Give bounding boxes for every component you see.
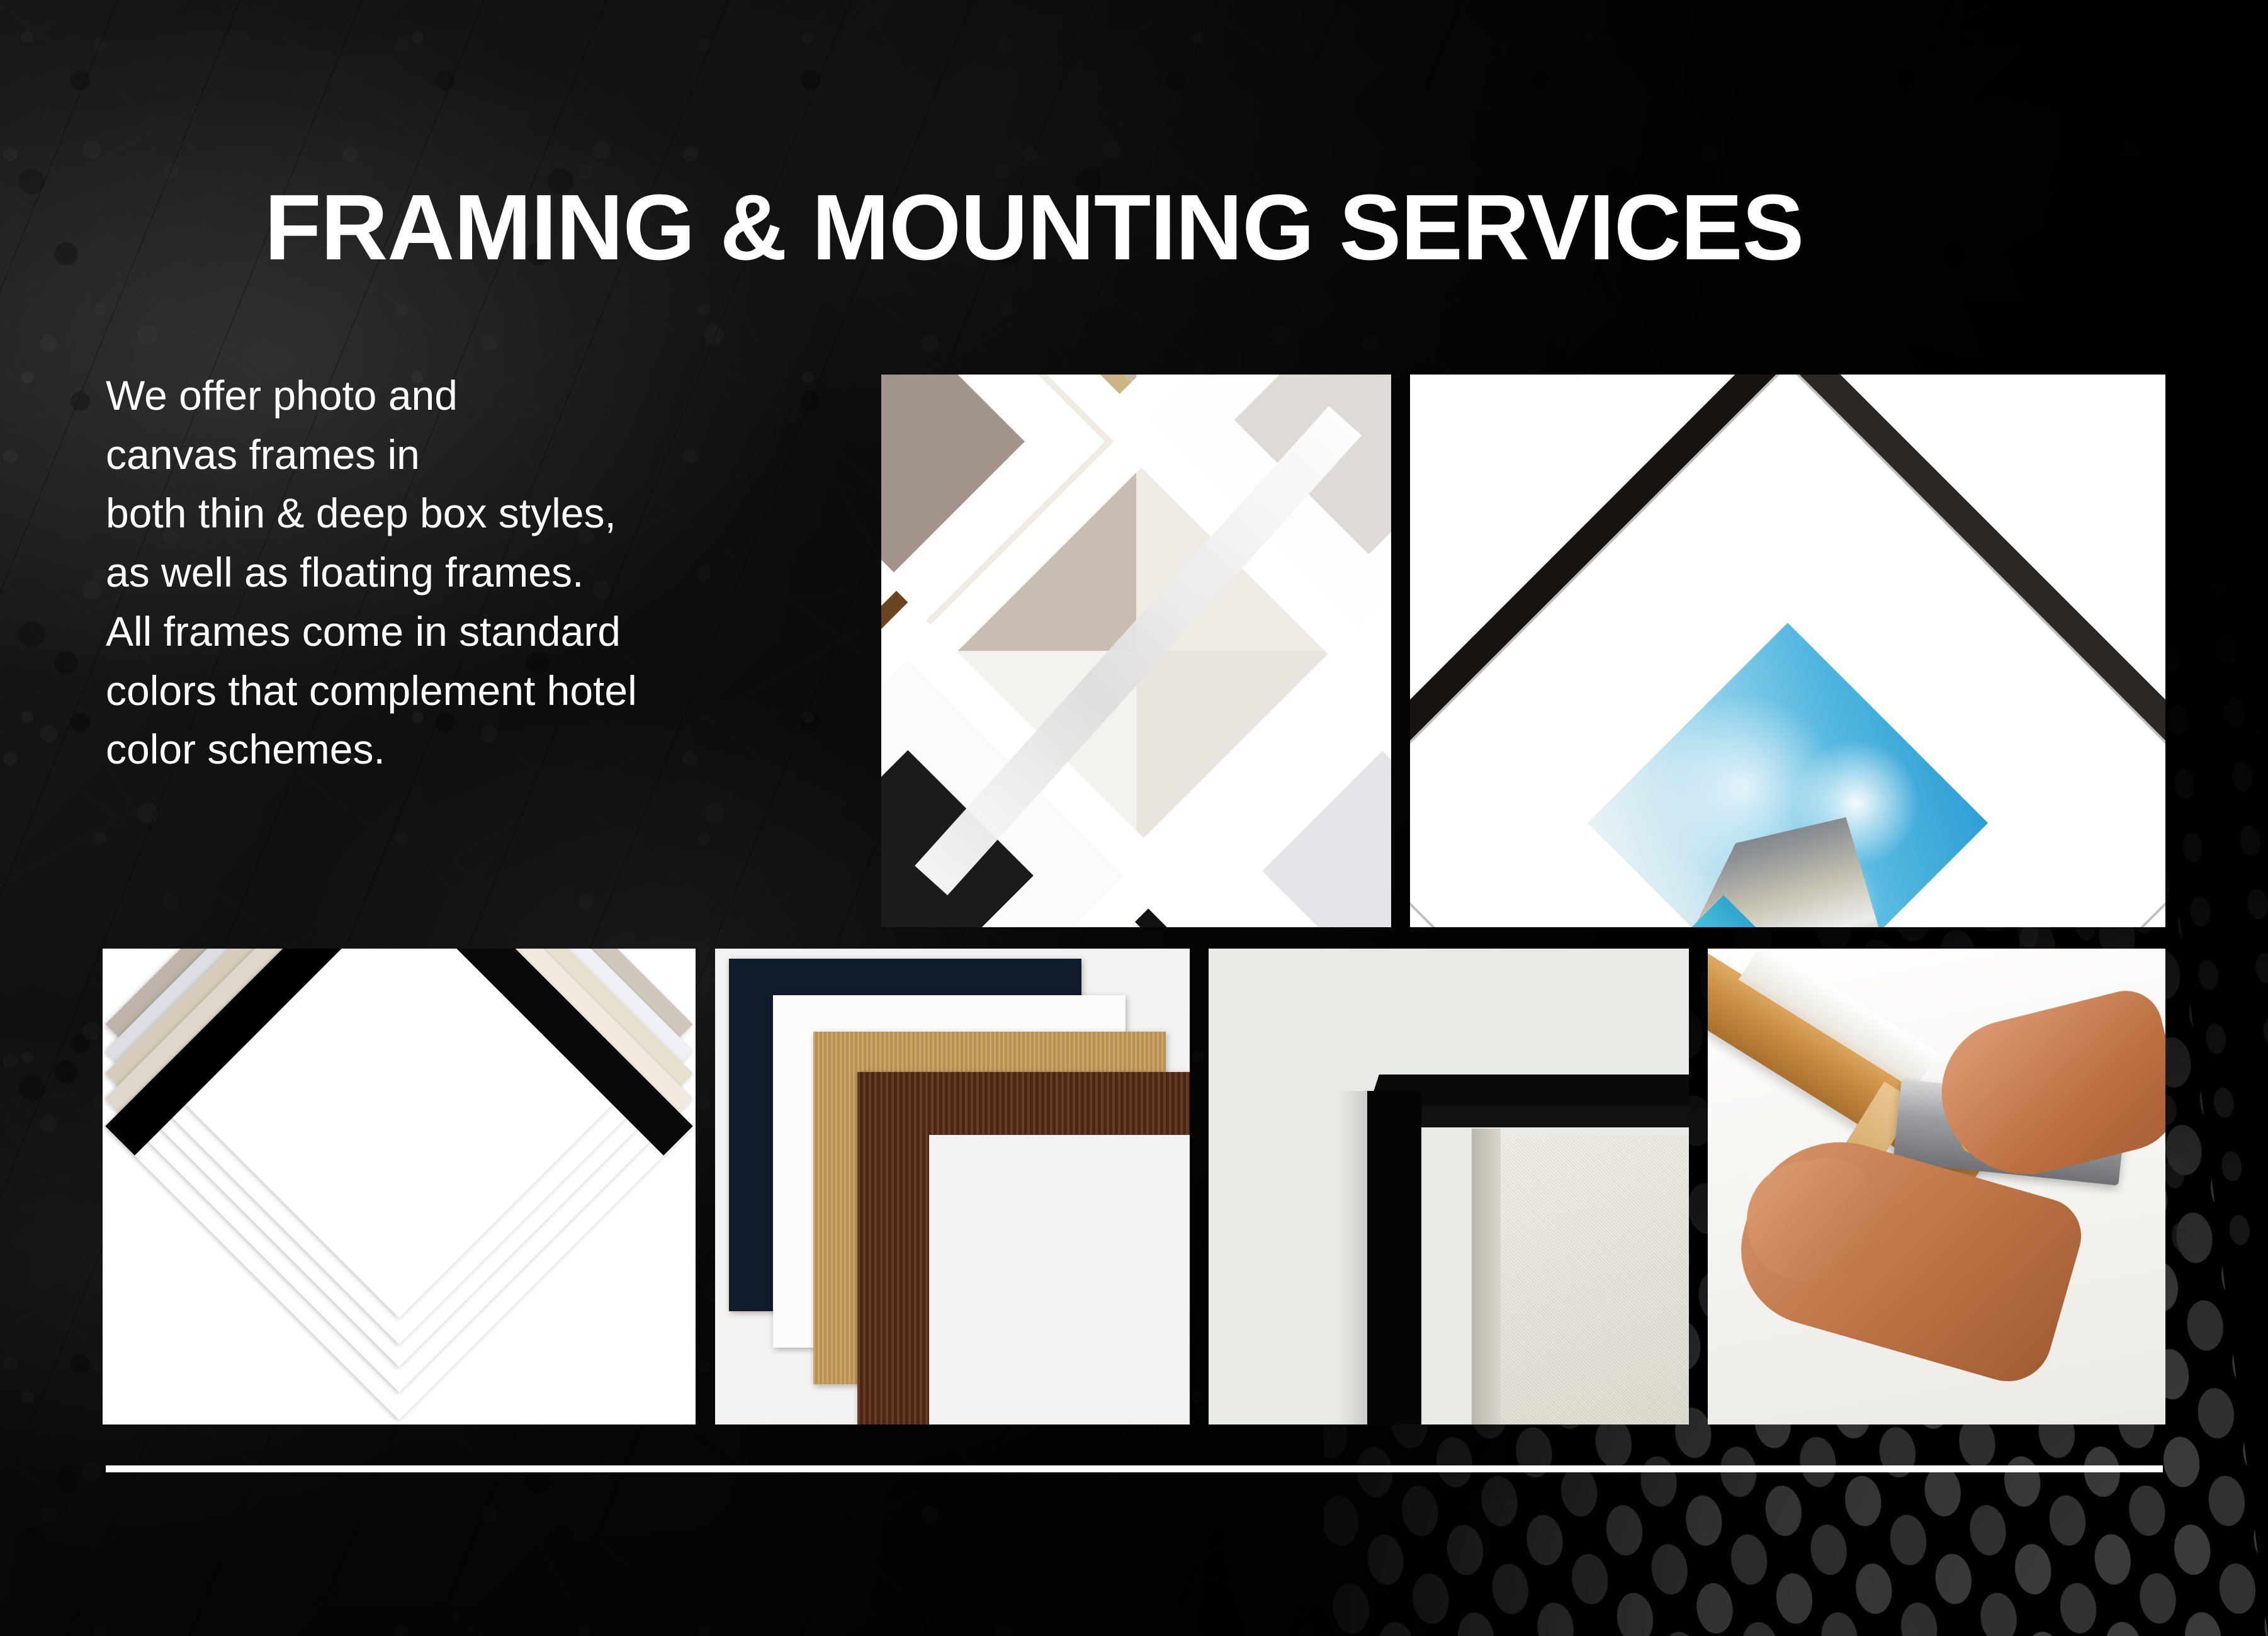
- frame-moulding-stage: [715, 949, 1190, 1424]
- body-line-4: as well as floating frames.: [106, 543, 861, 602]
- floating-frame-side-face: [1367, 1091, 1421, 1424]
- floating-frame-stage: [1209, 949, 1689, 1424]
- body-line-5: All frames come in standard: [106, 602, 861, 662]
- slide-root: FRAMING & MOUNTING SERVICES We offer pho…: [0, 0, 2268, 1636]
- body-copy: We offer photo and canvas frames in both…: [106, 366, 861, 779]
- body-line-3: both thin & deep box styles,: [106, 484, 861, 543]
- frame-moulding-walnut-aperture: [929, 1135, 1190, 1424]
- floating-frame-inner-bar: [1421, 1106, 1689, 1127]
- body-line-1: We offer photo and: [106, 366, 861, 426]
- body-line-6: colors that complement hotel: [106, 662, 861, 721]
- black-frame-moulding: [1410, 375, 2165, 927]
- footer-rule: [106, 1465, 2163, 1472]
- frame-corners-stage: [881, 375, 1391, 927]
- floating-frame-shadow: [1338, 1091, 1371, 1424]
- floating-frame-canvas-face: [1501, 1135, 1689, 1424]
- mat-board-stage: [103, 949, 696, 1424]
- body-line-7: color schemes.: [106, 720, 861, 779]
- image-floating-box-frame: [1209, 949, 1689, 1424]
- image-mat-board-stack: [103, 949, 696, 1424]
- image-frame-corners-x: [881, 375, 1391, 927]
- black-frame-sky-artwork: [1588, 623, 1988, 927]
- black-frame-stage: [1410, 375, 2165, 927]
- image-black-frame-landscape: [1410, 375, 2165, 927]
- artwork-mountain: [1656, 775, 1928, 927]
- page-title: FRAMING & MOUNTING SERVICES: [264, 181, 2090, 274]
- body-line-2: canvas frames in: [106, 426, 861, 485]
- image-frame-mouldings: [715, 949, 1190, 1424]
- stapling-stage: [1708, 949, 2165, 1424]
- floating-frame-canvas-edge: [1472, 1129, 1501, 1424]
- image-stapling-canvas: [1708, 949, 2165, 1424]
- black-frame-white-mat: [1410, 439, 2165, 927]
